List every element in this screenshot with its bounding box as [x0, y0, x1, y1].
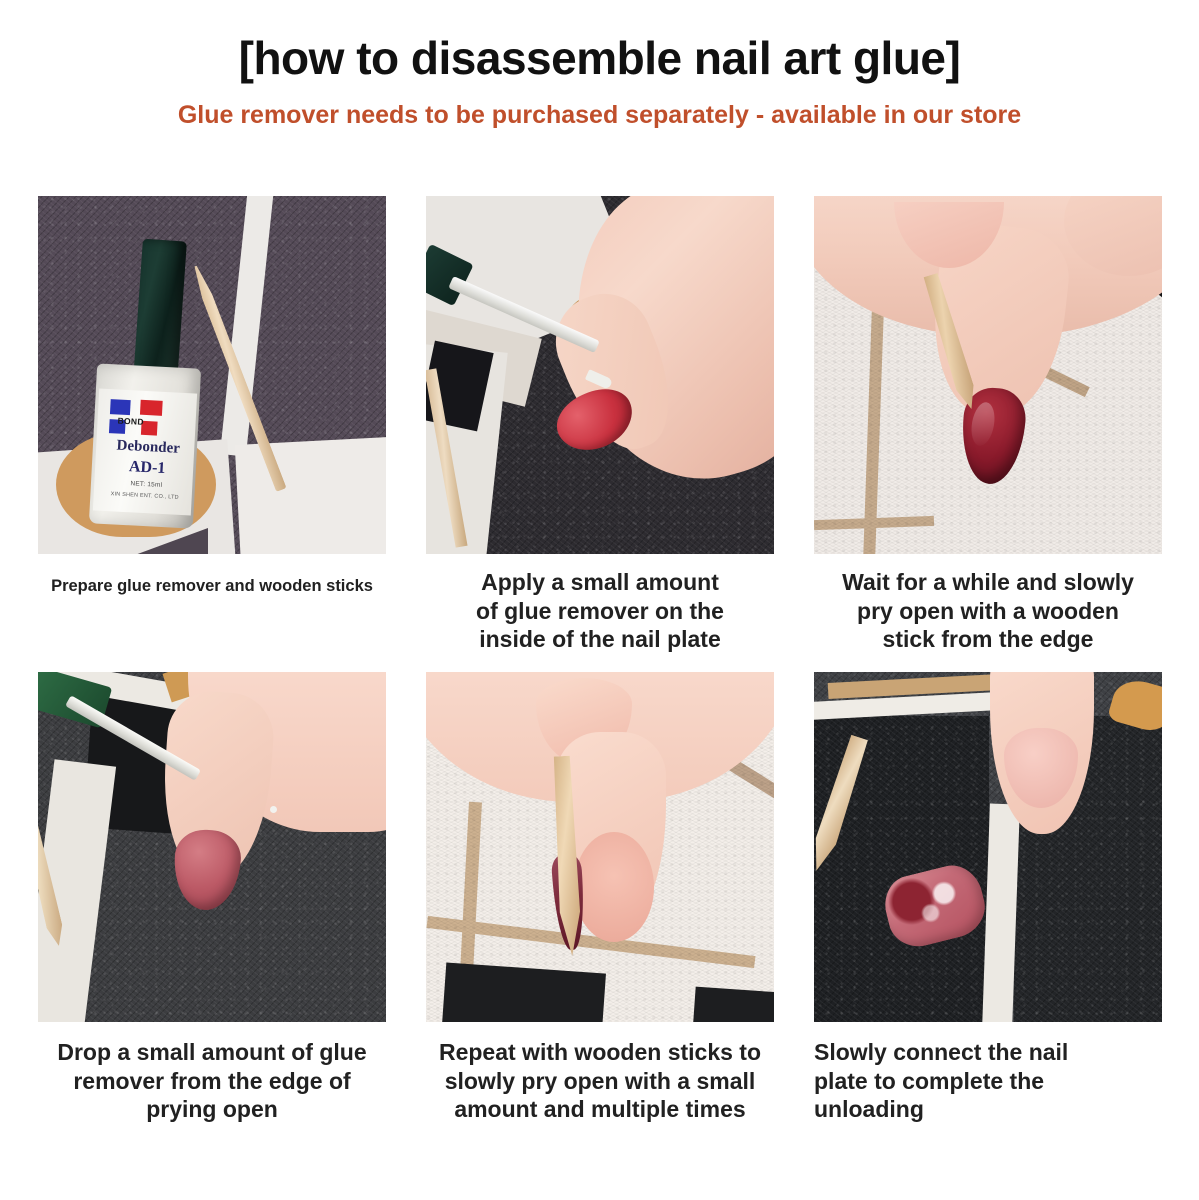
step-cell-2: Apply a small amount of glue remover on … — [426, 196, 774, 654]
label-net-text: NET: 15ml — [101, 479, 191, 491]
dark-block-shape-1 — [442, 962, 606, 1022]
step-cell-4: Drop a small amount of glue remover from… — [38, 672, 386, 1124]
highlight-dot — [270, 806, 277, 813]
step-caption-3: Wait for a while and slowly pry open wit… — [814, 568, 1162, 654]
step-photo-2 — [426, 196, 774, 554]
infographic-page: [how to disassemble nail art glue] Glue … — [0, 0, 1199, 1200]
label-blue-block-1 — [110, 399, 131, 415]
step-caption-1: Prepare glue remover and wooden sticks — [38, 576, 386, 596]
step-photo-3 — [814, 196, 1162, 554]
step-caption-6: Slowly connect the nail plate to complet… — [814, 1038, 1162, 1124]
step-photo-4 — [38, 672, 386, 1022]
bottle-label: BOND Debonder AD-1 NET: 15ml XIN SHEN EN… — [93, 389, 197, 516]
fingertip — [574, 832, 654, 942]
steps-grid-row-1: BOND Debonder AD-1 NET: 15ml XIN SHEN EN… — [38, 196, 1162, 654]
step-cell-3: Wait for a while and slowly pry open wit… — [814, 196, 1162, 654]
step-caption-2: Apply a small amount of glue remover on … — [426, 568, 774, 654]
label-brand-text: BOND — [117, 416, 144, 427]
step-photo-1: BOND Debonder AD-1 NET: 15ml XIN SHEN EN… — [38, 196, 386, 554]
white-panel-shape-2 — [235, 435, 386, 554]
step-photo-6 — [814, 672, 1162, 1022]
step-cell-5: Repeat with wooden sticks to slowly pry … — [426, 672, 774, 1124]
label-model-text: AD-1 — [102, 457, 193, 480]
label-red-block-1 — [140, 400, 163, 416]
header: [how to disassemble nail art glue] Glue … — [0, 0, 1199, 130]
steps-grid-row-2: Drop a small amount of glue remover from… — [38, 672, 1162, 1124]
page-subtitle: Glue remover needs to be purchased separ… — [0, 102, 1199, 130]
page-title: [how to disassemble nail art glue] — [0, 34, 1199, 82]
step-cell-6: Slowly connect the nail plate to complet… — [814, 672, 1162, 1124]
dark-block-shape-2 — [693, 987, 774, 1022]
label-company-text: XIN SHEN ENT. CO., LTD — [98, 491, 192, 502]
step-photo-5 — [426, 672, 774, 1022]
step-cell-1: BOND Debonder AD-1 NET: 15ml XIN SHEN EN… — [38, 196, 386, 654]
step-caption-4: Drop a small amount of glue remover from… — [38, 1038, 386, 1124]
label-product-text: Debonder — [103, 437, 194, 459]
step-caption-5: Repeat with wooden sticks to slowly pry … — [426, 1038, 774, 1124]
